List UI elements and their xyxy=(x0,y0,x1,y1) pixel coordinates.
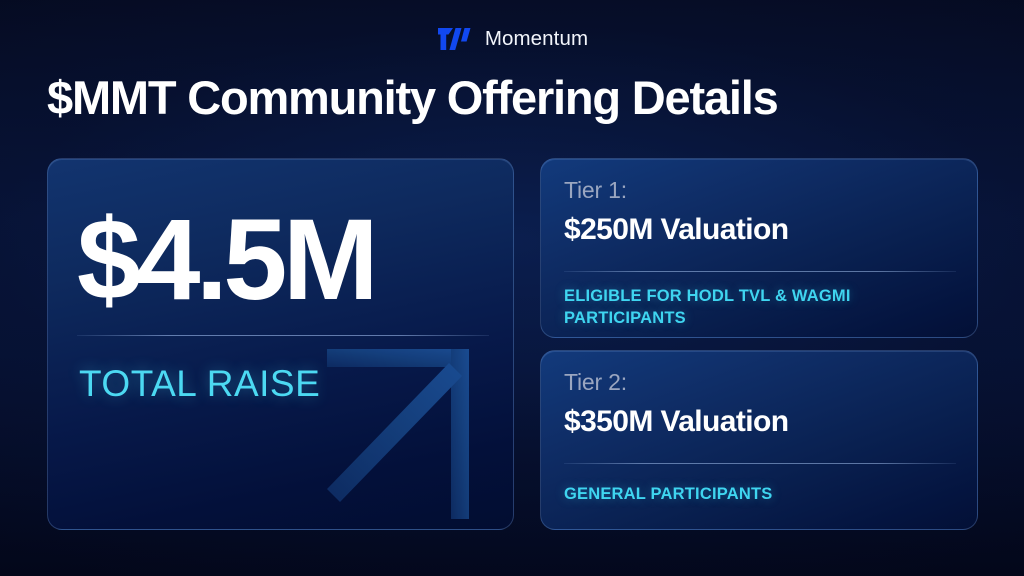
raise-card-divider xyxy=(77,335,489,336)
total-raise-label: TOTAL RAISE xyxy=(79,365,320,402)
tier-2-card: Tier 2: $350M Valuation GENERAL PARTICIP… xyxy=(540,350,978,530)
total-raise-card: $4.5M TOTAL RAISE xyxy=(47,158,514,530)
momentum-logo-mark-icon xyxy=(436,26,474,52)
page-title: $MMT Community Offering Details xyxy=(47,73,987,124)
tier-1-label: Tier 1: xyxy=(564,179,627,202)
tier-1-divider xyxy=(564,271,956,272)
brand-header: Momentum xyxy=(0,22,1024,56)
tier-2-label: Tier 2: xyxy=(564,371,627,394)
slide-canvas: Momentum $MMT Community Offering Details xyxy=(0,0,1024,576)
tier-1-note: ELIGIBLE FOR HODL TVL & WAGMI PARTICIPAN… xyxy=(564,286,964,330)
tier-1-card: Tier 1: $250M Valuation ELIGIBLE FOR HOD… xyxy=(540,158,978,338)
growth-arrow-up-right-icon xyxy=(321,339,514,530)
tier-2-valuation: $350M Valuation xyxy=(564,407,788,437)
tier-2-divider xyxy=(564,463,956,464)
brand-name: Momentum xyxy=(485,29,588,50)
tier-1-valuation: $250M Valuation xyxy=(564,215,788,245)
total-raise-amount: $4.5M xyxy=(77,203,374,318)
tier-2-note: GENERAL PARTICIPANTS xyxy=(564,484,964,506)
